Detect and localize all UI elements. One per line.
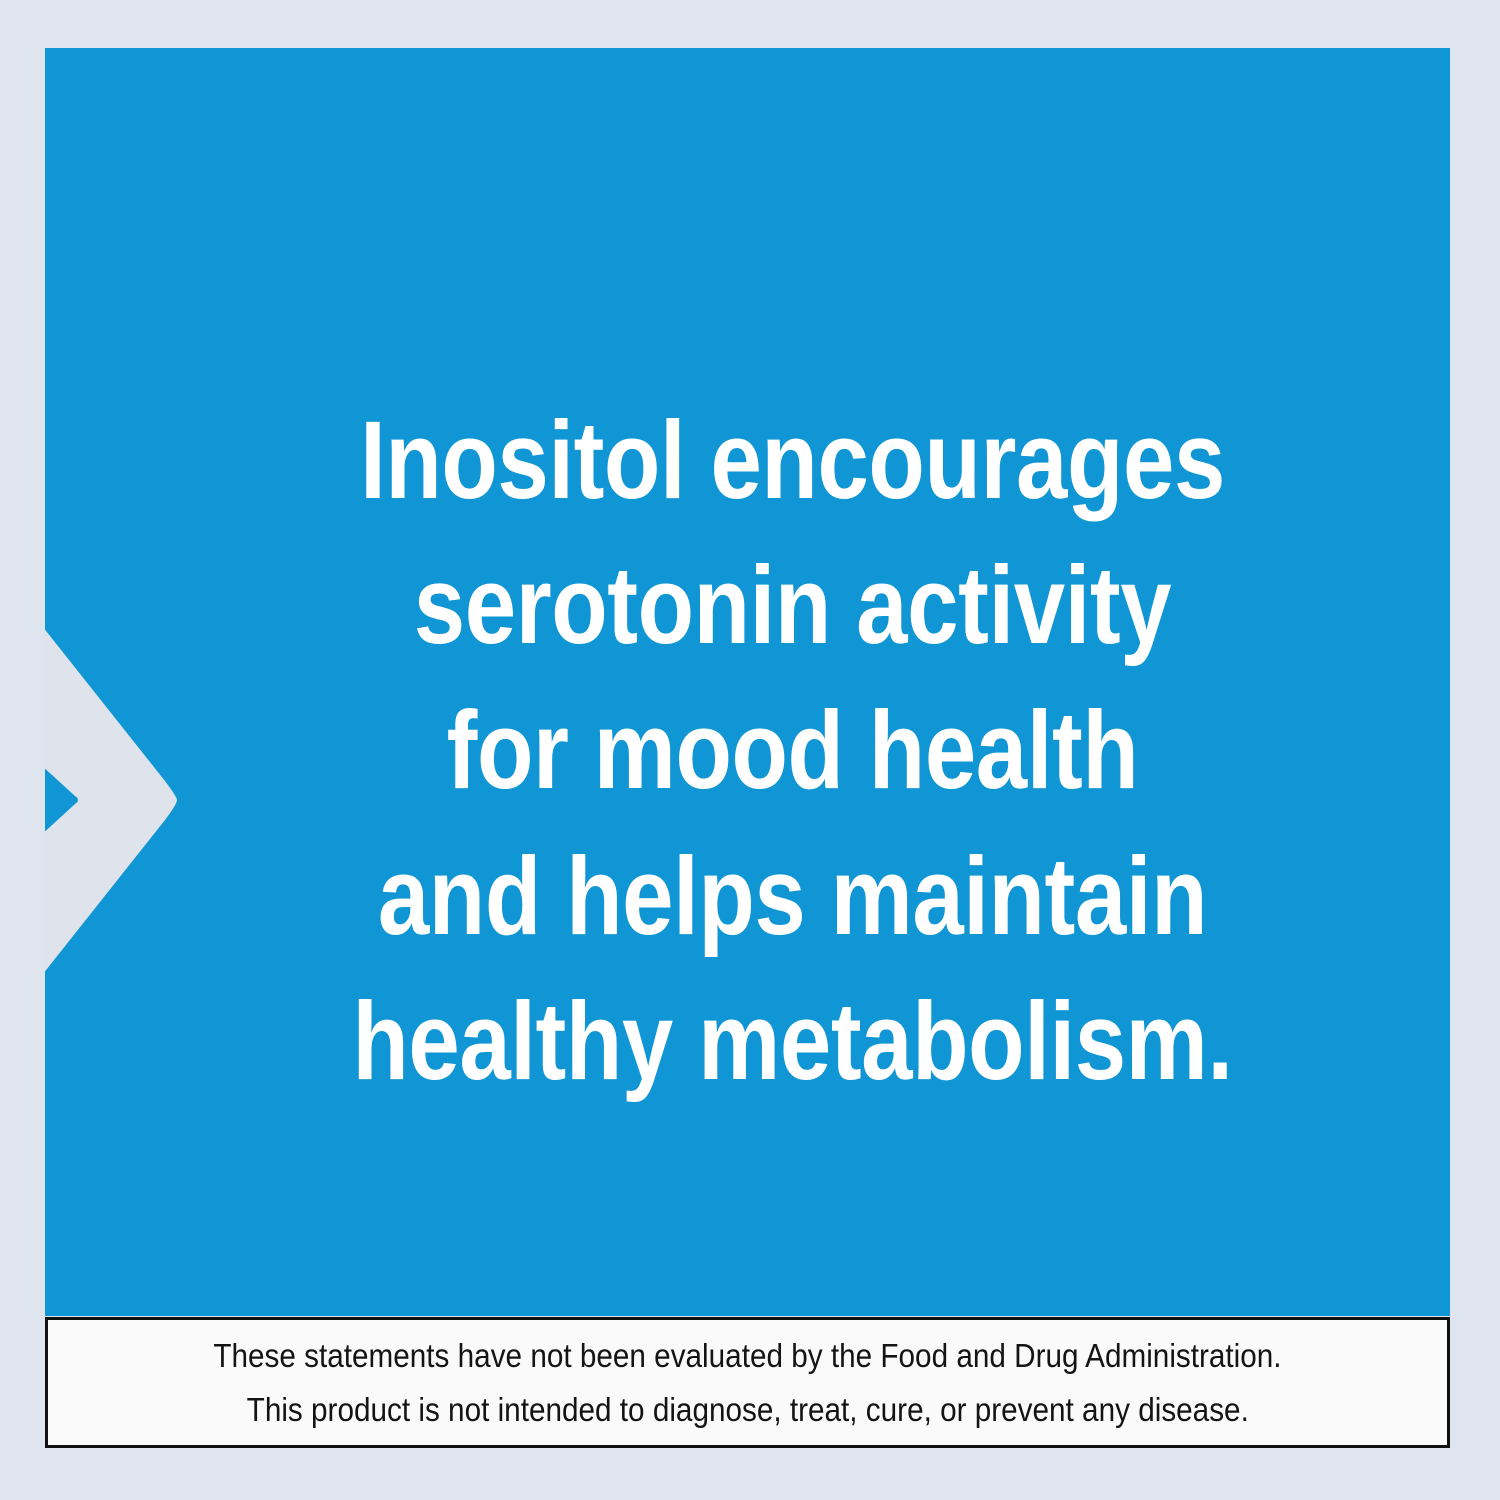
chevron-right-icon [45, 538, 215, 1063]
headline-line-1: Inositol encourages [202, 388, 1382, 533]
headline-line-5: healthy metabolism. [202, 969, 1382, 1114]
headline-line-2: serotonin activity [202, 533, 1382, 678]
headline-line-4: and helps maintain [202, 824, 1382, 969]
fda-disclaimer-box: These statements have not been evaluated… [45, 1317, 1450, 1448]
disclaimer-line-2: This product is not intended to diagnose… [246, 1383, 1248, 1436]
headline-line-3: for mood health [202, 678, 1382, 823]
product-benefit-card: Inositol encourages serotonin activity f… [0, 0, 1500, 1500]
hero-panel: Inositol encourages serotonin activity f… [45, 48, 1450, 1316]
page-title: Inositol encourages serotonin activity f… [202, 388, 1382, 1114]
disclaimer-line-1: These statements have not been evaluated… [213, 1329, 1281, 1382]
